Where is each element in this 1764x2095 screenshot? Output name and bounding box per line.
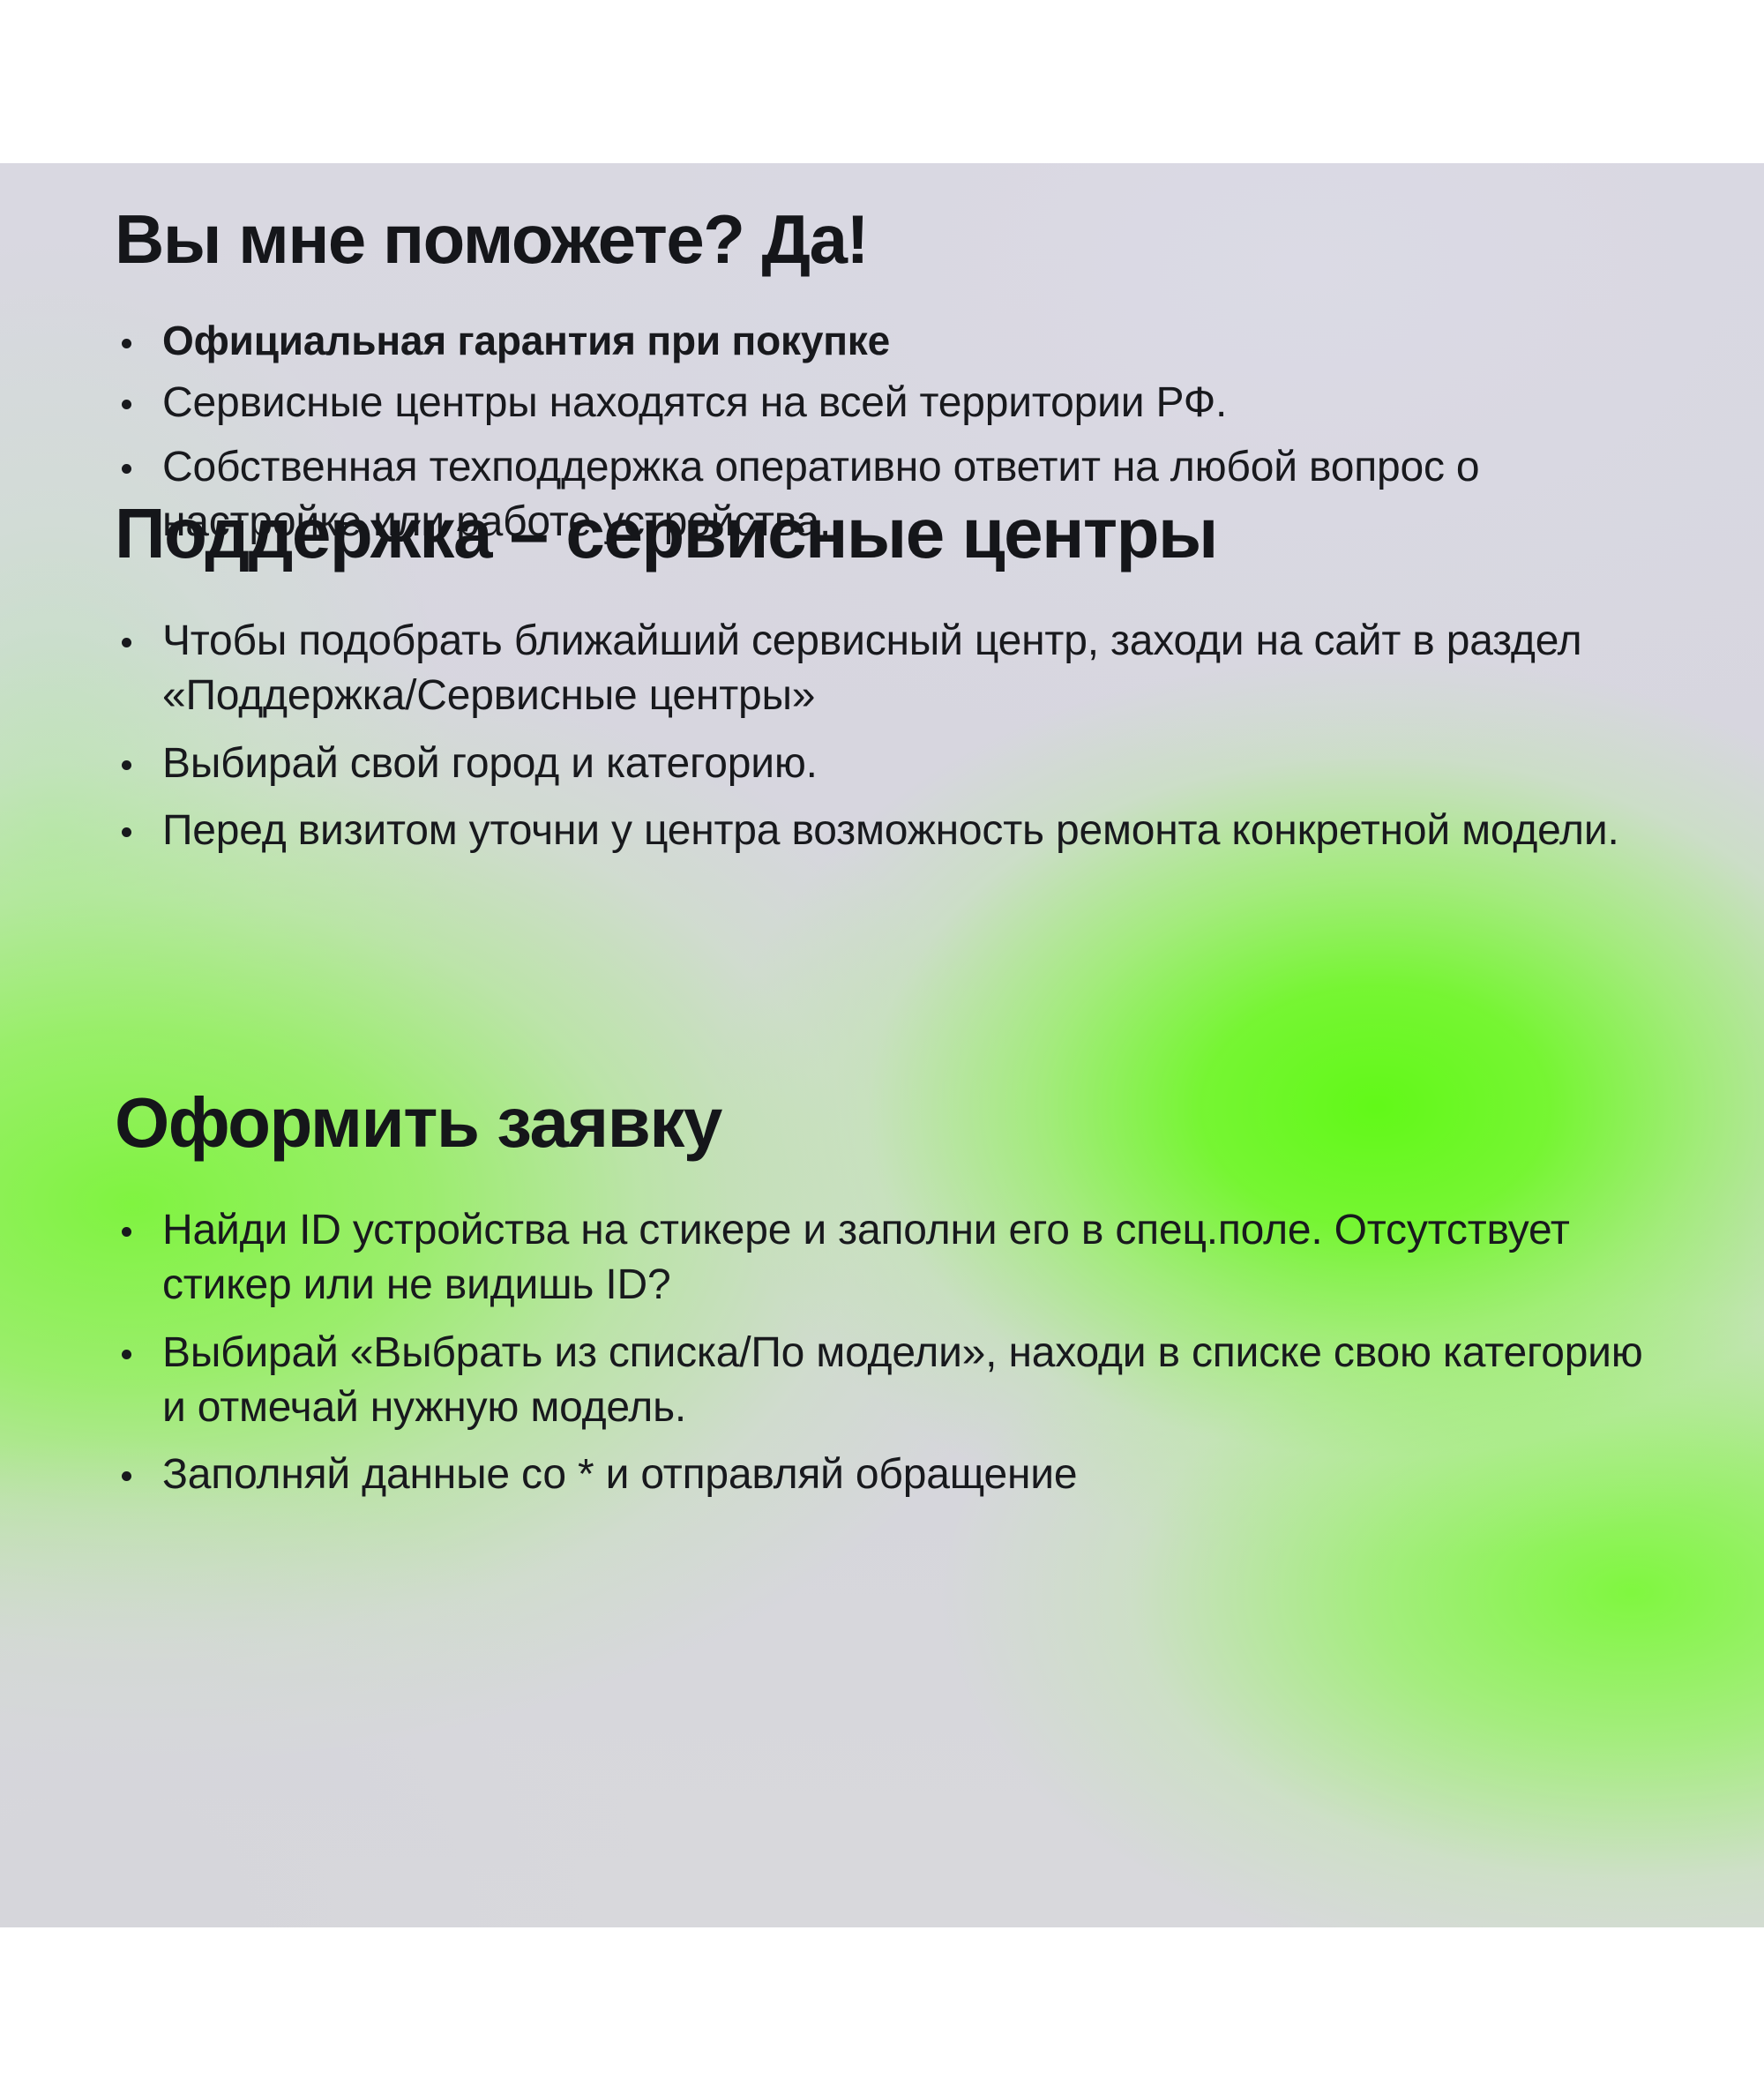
- section-title-create-request: Оформить заявку: [115, 1086, 1667, 1161]
- section-title-help: Вы мне поможете? Да!: [115, 203, 1667, 276]
- list-item: Сервисные центры находятся на всей терри…: [115, 376, 1667, 430]
- list-item: Официальная гарантия при покупке: [115, 315, 1667, 368]
- bullet-text: Сервисные центры находятся на всей терри…: [162, 379, 1227, 426]
- section-title-support-centers: Поддержка – сервисные центры: [115, 497, 1667, 572]
- bullet-text: Перед визитом уточни у центра возможност…: [162, 807, 1619, 854]
- bullet-text: Найди ID устройства на стикере и заполни…: [162, 1207, 1570, 1308]
- bullet-text: Официальная гарантия при покупке: [162, 318, 890, 363]
- bullet-text: Заполняй данные со * и отправляй обращен…: [162, 1451, 1077, 1498]
- section-create-request: Оформить заявку Найди ID устройства на с…: [115, 1086, 1667, 1515]
- list-item: Выбирай свой город и категорию.: [115, 737, 1667, 791]
- list-item: Перед визитом уточни у центра возможност…: [115, 804, 1667, 858]
- bullet-text: Выбирай «Выбрать из списка/По модели», н…: [162, 1329, 1643, 1431]
- bullet-text: Чтобы подобрать ближайший сервисный цент…: [162, 617, 1581, 719]
- list-item: Найди ID устройства на стикере и заполни…: [115, 1203, 1667, 1313]
- bullet-list-support-centers: Чтобы подобрать ближайший сервисный цент…: [115, 614, 1667, 859]
- slide-canvas: Вы мне поможете? Да! Официальная гаранти…: [0, 163, 1764, 1927]
- bullet-text: Выбирай свой город и категорию.: [162, 740, 818, 787]
- bullet-list-create-request: Найди ID устройства на стикере и заполни…: [115, 1203, 1667, 1503]
- list-item: Заполняй данные со * и отправляй обращен…: [115, 1448, 1667, 1502]
- list-item: Чтобы подобрать ближайший сервисный цент…: [115, 614, 1667, 724]
- list-item: Выбирай «Выбрать из списка/По модели», н…: [115, 1326, 1667, 1436]
- section-support-centers: Поддержка – сервисные центры Чтобы подоб…: [115, 497, 1667, 871]
